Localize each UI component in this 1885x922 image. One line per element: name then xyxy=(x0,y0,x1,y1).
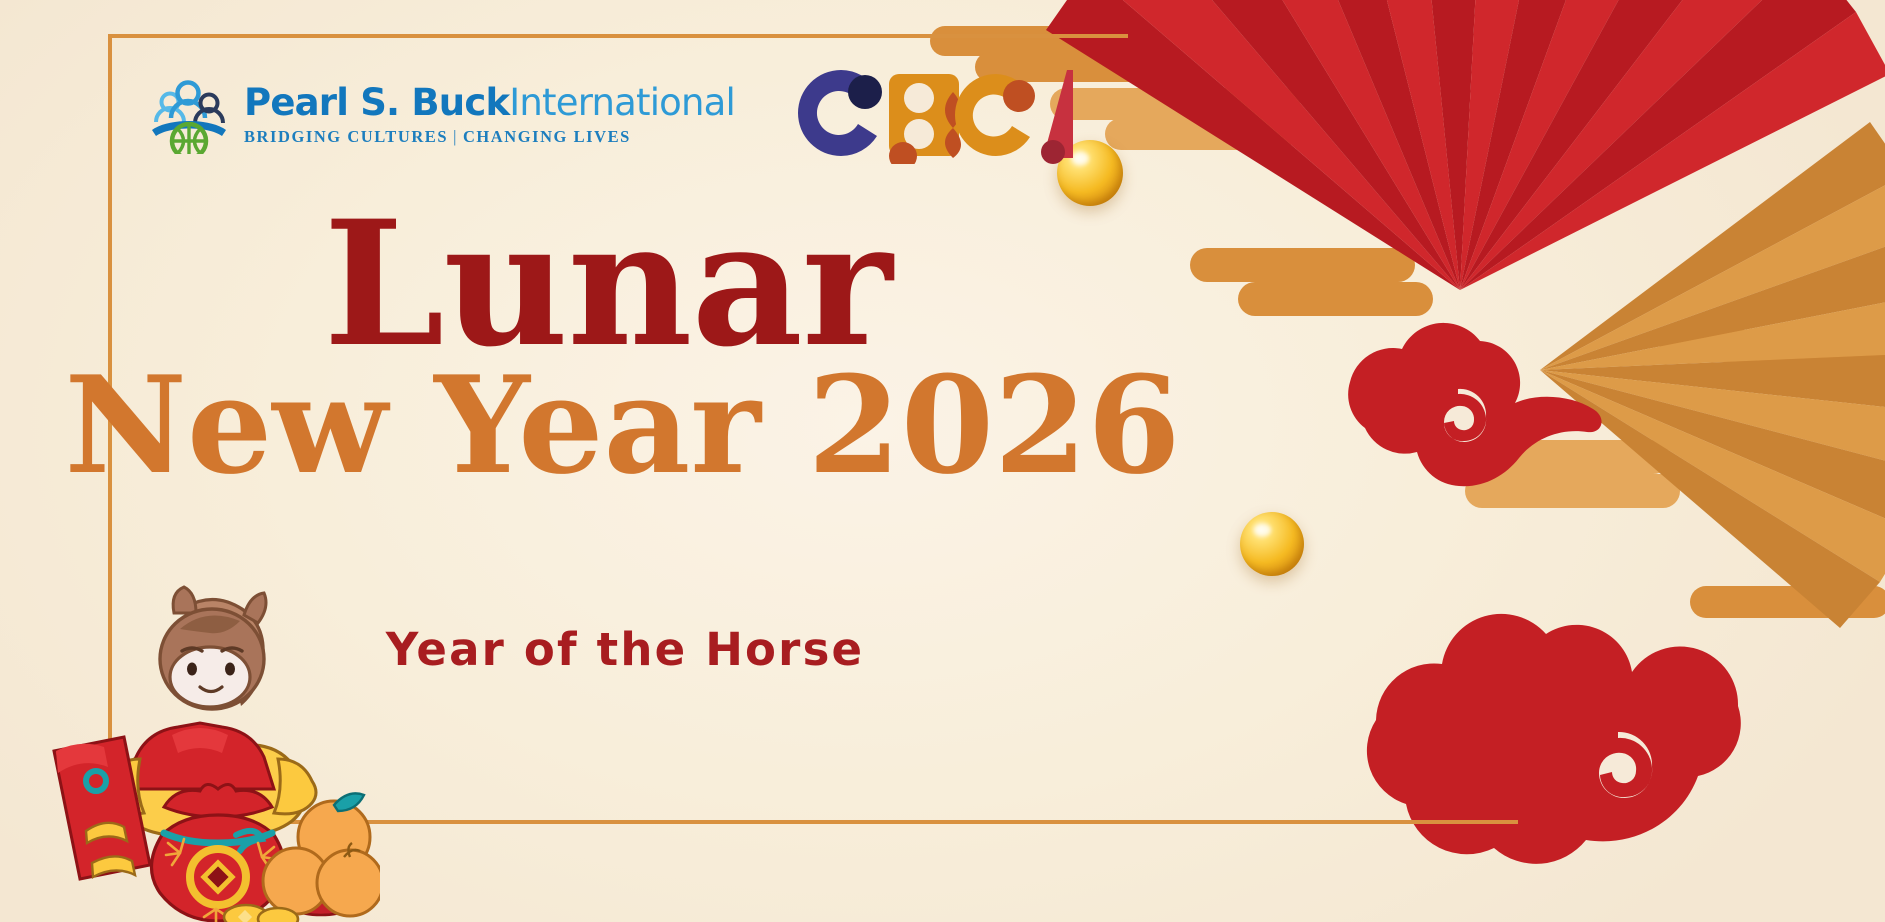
cartoon-horse xyxy=(160,587,266,709)
horse-with-treasures-illustration xyxy=(40,585,380,922)
people-globe-icon xyxy=(148,78,230,154)
header-logos: Pearl S. BuckInternational BRIDGING CULT… xyxy=(148,62,1073,169)
psb-name-bold: Pearl S. Buck xyxy=(244,81,509,124)
psb-tagline-divider: | xyxy=(448,127,463,146)
page-title-line-2: New Year 2026 xyxy=(0,358,1245,492)
cbca-logo[interactable] xyxy=(781,62,1073,169)
cbca-wordmark xyxy=(781,62,1073,164)
psb-tagline-left: BRIDGING CULTURES xyxy=(244,127,448,146)
psb-name-light: International xyxy=(509,81,735,124)
frame-border-top xyxy=(108,34,1128,38)
red-swirl-cloud-lower xyxy=(1318,570,1788,922)
psb-tagline: BRIDGING CULTURES|CHANGING LIVES xyxy=(244,127,735,147)
money-bag xyxy=(151,784,284,922)
pearl-s-buck-wordmark: Pearl S. BuckInternational BRIDGING CULT… xyxy=(244,84,735,147)
gold-sphere-lower xyxy=(1240,512,1304,576)
psb-tagline-right: CHANGING LIVES xyxy=(463,127,631,146)
red-swirl-cloud-upper xyxy=(1272,322,1602,537)
page-title-line-1: Lunar xyxy=(0,198,1215,370)
pearl-s-buck-logo[interactable]: Pearl S. BuckInternational BRIDGING CULT… xyxy=(148,78,735,154)
psb-name-line: Pearl S. BuckInternational xyxy=(244,84,735,121)
lunar-new-year-banner: Pearl S. BuckInternational BRIDGING CULT… xyxy=(0,0,1885,922)
